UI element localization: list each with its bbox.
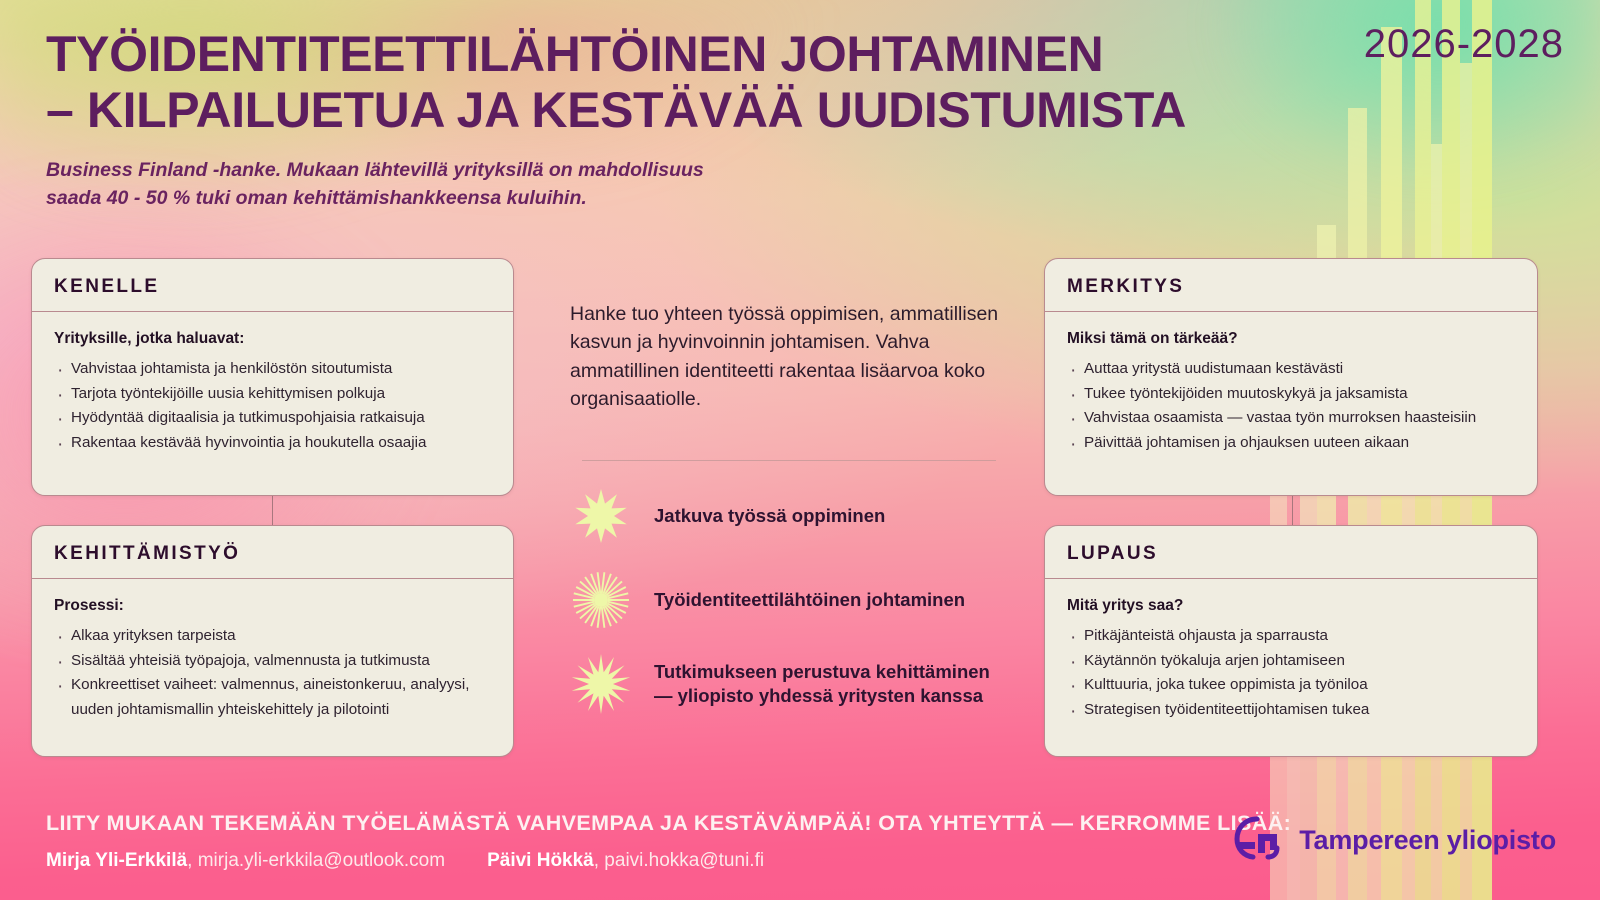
contact-entry[interactable]: Mirja Yli-Erkkilä, mirja.yli-erkkila@out…: [46, 850, 445, 872]
connector-line-right: [1292, 494, 1293, 528]
list-item: Tukee työntekijöiden muutoskykyä ja jaks…: [1067, 382, 1515, 407]
card-kenelle-heading: KENELLE: [32, 259, 513, 312]
page-title-line1: TYÖIDENTITEETTILÄHTÖINEN JOHTAMINEN: [46, 26, 1366, 82]
star-spike-icon: [570, 653, 632, 715]
card-kehittamistyo: KEHITTÄMISTYÖ Prosessi: Alkaa yrityksen …: [31, 525, 514, 757]
list-item: Rakentaa kestävää hyvinvointia ja houkut…: [54, 431, 491, 456]
center-bullet-row: Työidentiteettilähtöinen johtaminen: [570, 569, 1010, 631]
center-bullet-row: Tutkimukseen perustuva kehittäminen — yl…: [570, 653, 1010, 715]
card-kehittamistyo-body: Prosessi: Alkaa yrityksen tarpeistaSisäl…: [32, 579, 513, 739]
card-kenelle-body: Yrityksille, jotka haluavat: Vahvistaa j…: [32, 312, 513, 472]
center-lead-text: Hanke tuo yhteen työssä oppimisen, ammat…: [570, 300, 1010, 414]
card-lupaus-body: Mitä yritys saa? Pitkäjänteistä ohjausta…: [1045, 579, 1537, 739]
card-kenelle-list: Vahvistaa johtamista ja henkilöstön sito…: [54, 357, 491, 456]
list-item: Auttaa yritystä uudistumaan kestävästi: [1067, 357, 1515, 382]
star-burst-icon: [570, 485, 632, 547]
list-item: Pitkäjänteistä ohjausta ja sparrausta: [1067, 624, 1515, 649]
page-subtitle-line1: Business Finland -hanke. Mukaan lähtevil…: [46, 156, 846, 184]
card-lupaus-heading: LUPAUS: [1045, 526, 1537, 579]
list-item: Hyödyntää digitaalisia ja tutkimuspohjai…: [54, 406, 491, 431]
contact-email[interactable]: , mirja.yli-erkkila@outlook.com: [187, 850, 445, 871]
center-divider: [582, 460, 996, 461]
card-merkitys: MERKITYS Miksi tämä on tärkeää? Auttaa y…: [1044, 258, 1538, 496]
list-item: Tarjota työntekijöille uusia kehittymise…: [54, 382, 491, 407]
list-item: Päivittää johtamisen ja ohjauksen uuteen…: [1067, 431, 1515, 456]
connector-line-left: [272, 494, 273, 528]
tampere-university-wordmark: Tampereen yliopisto: [1299, 825, 1556, 856]
center-bullet-list: Jatkuva työssä oppiminenTyöidentiteettil…: [570, 485, 1010, 715]
list-item: Sisältää yhteisiä työpajoja, valmennusta…: [54, 649, 491, 674]
card-lupaus-list: Pitkäjänteistä ohjausta ja sparraustaKäy…: [1067, 624, 1515, 723]
card-kehittamistyo-heading: KEHITTÄMISTYÖ: [32, 526, 513, 579]
center-bullet-label: Työidentiteettilähtöinen johtaminen: [654, 588, 965, 612]
contact-name: Päivi Hökkä: [487, 850, 594, 871]
project-years: 2026-2028: [1364, 22, 1564, 67]
header-block: TYÖIDENTITEETTILÄHTÖINEN JOHTAMINEN – KI…: [46, 26, 1366, 213]
center-bullet-label: Jatkuva työssä oppiminen: [654, 504, 885, 528]
center-bullet-label: Tutkimukseen perustuva kehittäminen — yl…: [654, 660, 1010, 709]
card-merkitys-list: Auttaa yritystä uudistumaan kestävästiTu…: [1067, 357, 1515, 456]
center-column: Hanke tuo yhteen työssä oppimisen, ammat…: [570, 300, 1010, 737]
card-kehittamistyo-lead: Prosessi:: [54, 597, 491, 615]
list-item: Käytännön työkaluja arjen johtamiseen: [1067, 649, 1515, 674]
contact-name: Mirja Yli-Erkkilä: [46, 850, 187, 871]
card-lupaus: LUPAUS Mitä yritys saa? Pitkäjänteistä o…: [1044, 525, 1538, 757]
sunburst-rays-icon: [570, 569, 632, 631]
page-subtitle: Business Finland -hanke. Mukaan lähtevil…: [46, 156, 846, 213]
card-lupaus-lead: Mitä yritys saa?: [1067, 597, 1515, 615]
footer-cta-text: LIITY MUKAAN TEKEMÄÄN TYÖELÄMÄSTÄ VAHVEM…: [46, 811, 1296, 836]
card-merkitys-heading: MERKITYS: [1045, 259, 1537, 312]
center-bullet-row: Jatkuva työssä oppiminen: [570, 485, 1010, 547]
page-subtitle-line2: saada 40 - 50 % tuki oman kehittämishank…: [46, 184, 846, 212]
page-title-line2: – KILPAILUETUA JA KESTÄVÄÄ UUDISTUMISTA: [46, 82, 1366, 138]
list-item: Alkaa yrityksen tarpeista: [54, 624, 491, 649]
list-item: Vahvistaa osaamista — vastaa työn murrok…: [1067, 406, 1515, 431]
decorative-bar: [1348, 108, 1367, 900]
list-item: Kulttuuria, joka tukee oppimista ja työn…: [1067, 673, 1515, 698]
footer-contacts: Mirja Yli-Erkkilä, mirja.yli-erkkila@out…: [46, 850, 1296, 872]
list-item: Strategisen työidentiteettijohtamisen tu…: [1067, 698, 1515, 723]
card-kenelle-lead: Yrityksille, jotka haluavat:: [54, 330, 491, 348]
tampere-university-logo: Tampereen yliopisto: [1232, 815, 1556, 866]
tampere-university-mark-icon: [1232, 815, 1286, 866]
contact-entry[interactable]: Päivi Hökkä, paivi.hokka@tuni.fi: [487, 850, 764, 872]
contact-email[interactable]: , paivi.hokka@tuni.fi: [594, 850, 764, 871]
card-kehittamistyo-list: Alkaa yrityksen tarpeistaSisältää yhteis…: [54, 624, 491, 723]
card-kenelle: KENELLE Yrityksille, jotka haluavat: Vah…: [31, 258, 514, 496]
card-merkitys-lead: Miksi tämä on tärkeää?: [1067, 330, 1515, 348]
footer-block: LIITY MUKAAN TEKEMÄÄN TYÖELÄMÄSTÄ VAHVEM…: [46, 811, 1296, 872]
list-item: Konkreettiset vaiheet: valmennus, aineis…: [54, 673, 491, 722]
list-item: Vahvistaa johtamista ja henkilöstön sito…: [54, 357, 491, 382]
card-merkitys-body: Miksi tämä on tärkeää? Auttaa yritystä u…: [1045, 312, 1537, 472]
